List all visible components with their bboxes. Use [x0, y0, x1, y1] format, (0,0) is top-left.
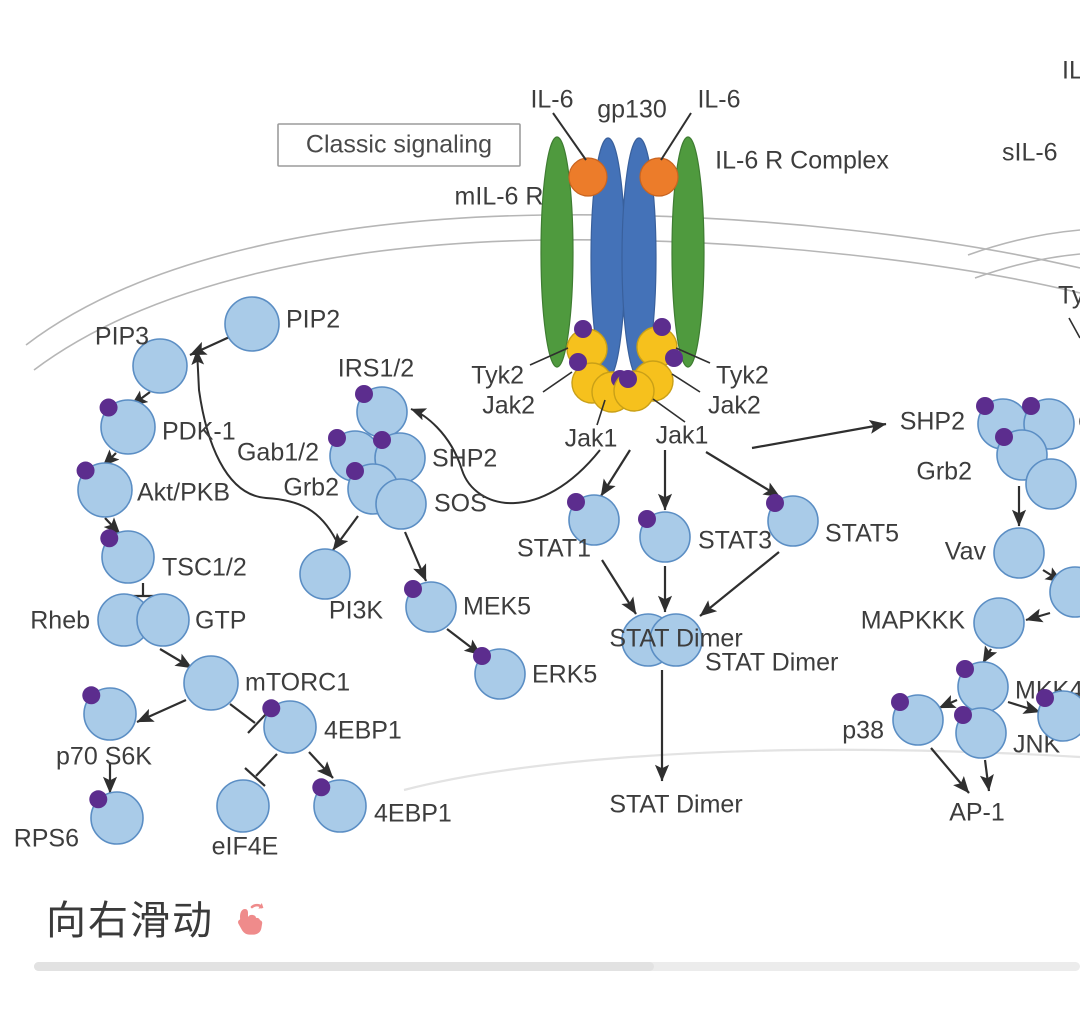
node-label-p70s6k: p70 S6K [56, 743, 152, 771]
protein-node-pdk1[interactable]: PDK-1 [100, 399, 236, 454]
protein-node-stat3[interactable]: STAT3 [638, 510, 772, 562]
node-label-mek5: MEK5 [463, 593, 531, 621]
jak2-right-label: Jak2 [708, 392, 761, 420]
phospho-dot [355, 385, 373, 403]
protein-node-p70s6k[interactable]: p70 S6K [56, 686, 152, 770]
arrow-p38-ap1 [931, 748, 969, 793]
node-label-erk5: ERK5 [532, 661, 597, 689]
node-label-pip3: PIP3 [95, 323, 149, 351]
node-circle [1026, 459, 1076, 509]
arrow-mtorc1-p70s6k [137, 700, 186, 722]
node-label-stat5: STAT5 [825, 520, 899, 548]
node-circle [184, 656, 238, 710]
article-page: Classic signaling IL-6 [0, 0, 1080, 1022]
jak-right-phospho-2 [665, 349, 683, 367]
protein-node-pip2[interactable]: PIP2 [225, 297, 340, 351]
node-label-statdim2: STAT Dimer [609, 625, 742, 653]
il6-right-label: IL-6 [697, 86, 740, 114]
arrow-jnk-ap1 [985, 760, 989, 791]
arrow-sos-mek5 [405, 532, 426, 581]
protein-node-rac[interactable] [1050, 567, 1080, 617]
il6-ligand-right [640, 158, 678, 196]
node-label-gtp: GTP [195, 607, 246, 635]
phospho-dot [89, 790, 107, 808]
node-circle [376, 479, 426, 529]
node-label-shp2r: SHP2 [900, 408, 965, 436]
arrow-rheb-mtorc1 [160, 649, 192, 668]
arrow-jak-stat5 [706, 452, 780, 497]
protein-node-stat5[interactable]: STAT5 [766, 494, 899, 548]
trans-il6-label: IL [1062, 57, 1080, 85]
gp130-label: gp130 [597, 96, 667, 124]
protein-node-irs[interactable]: IRS1/2 [338, 355, 414, 437]
protein-node-eif4e[interactable]: eIF4E [212, 780, 279, 861]
protein-node-stat1[interactable]: STAT1 [517, 493, 619, 563]
phospho-dot [328, 429, 346, 447]
protein-node-rheb[interactable]: Rheb [30, 594, 150, 646]
phospho-dot [567, 493, 585, 511]
jak2-left-label: Jak2 [482, 392, 535, 420]
protein-node-sosr[interactable]: S [1026, 459, 1080, 509]
phospho-dot [100, 529, 118, 547]
il6-left-label: IL-6 [530, 86, 573, 114]
horizontal-scroll-thumb[interactable] [34, 962, 654, 971]
protein-node-vav[interactable]: Vav [945, 528, 1044, 578]
protein-node-4ebp1b[interactable]: 4EBP1 [312, 778, 452, 832]
node-label-stat1: STAT1 [517, 535, 591, 563]
inhib-mtorc1-4ebp1-bar [248, 714, 266, 733]
phospho-dot [954, 706, 972, 724]
node-label-pip2: PIP2 [286, 306, 340, 334]
protein-node-p38[interactable]: p38 [842, 693, 943, 745]
arrow-jak-shp2 [752, 424, 886, 448]
protein-node-mek5[interactable]: MEK5 [404, 580, 531, 632]
jak2-left-leader [543, 372, 572, 392]
jak-right-phospho-3 [619, 370, 637, 388]
jak1-left-label: Jak1 [565, 425, 618, 453]
protein-node-pi3k[interactable]: PI3K [300, 549, 383, 625]
tyk2-left-label: Tyk2 [471, 362, 524, 390]
node-label-mtorc1: mTORC1 [245, 669, 350, 697]
phospho-dot [100, 399, 118, 417]
mil6r-subunit-left [541, 137, 573, 367]
trans-tyk-leader [1069, 318, 1080, 338]
phospho-dot [956, 660, 974, 678]
protein-node-4ebp1a[interactable]: 4EBP1 [262, 699, 402, 753]
phospho-dot [995, 428, 1013, 446]
protein-node-rps6[interactable]: RPS6 [14, 790, 143, 852]
arrow-grb2-pi3k [333, 516, 358, 550]
node-label-mapkkk: MAPKKK [861, 607, 966, 635]
node-label-akt: Akt/PKB [137, 479, 230, 507]
phospho-dot [1036, 689, 1054, 707]
jak-left-phospho-2 [569, 353, 587, 371]
pointing-right-hand-icon [228, 897, 268, 937]
swipe-hint-row[interactable]: 向右滑动 [0, 868, 1080, 966]
il6-ligand-left [569, 158, 607, 196]
jak1-right-leader [653, 399, 685, 422]
jak1-right-label: Jak1 [656, 422, 709, 450]
phospho-dot [891, 693, 909, 711]
phospho-dot [473, 647, 491, 665]
phospho-dot [82, 686, 100, 704]
protein-node-mapkkk[interactable]: MAPKKK [861, 598, 1024, 648]
node-label-4ebp1a: 4EBP1 [324, 717, 402, 745]
phospho-dot [346, 462, 364, 480]
tyk2-right-label: Tyk2 [716, 362, 769, 390]
il6r-complex-label: IL-6 R Complex [715, 147, 889, 175]
node-circle [300, 549, 350, 599]
classic-signaling-label: Classic signaling [306, 131, 492, 159]
node-label-irs: IRS1/2 [338, 355, 414, 383]
page-footer [0, 971, 1080, 1022]
phospho-dot [312, 778, 330, 796]
phospho-dot [1022, 397, 1040, 415]
phospho-dot [638, 510, 656, 528]
terminal-label-ap1: AP-1 [949, 799, 1005, 827]
node-circle [225, 297, 279, 351]
node-circle [217, 780, 269, 832]
arrow-mapkkk-mkk4 [983, 649, 991, 663]
arrow-stat1-dimer [602, 560, 636, 614]
protein-nodes-layer: PIP2PIP3PDK-1Akt/PKBTSC1/2RhebGTPmTORC1p… [14, 297, 1080, 861]
jak-left-phospho-1 [574, 320, 592, 338]
node-label-rps6: RPS6 [14, 825, 79, 853]
node-circle [1050, 567, 1080, 617]
node-label-gab: Gab1/2 [237, 439, 319, 467]
arrow-4ebp1-4ebp1p [309, 752, 333, 778]
node-label-vav: Vav [945, 538, 987, 566]
node-circle [974, 598, 1024, 648]
pathway-figure-card[interactable]: Classic signaling IL-6 [0, 0, 1080, 868]
node-label-pdk1: PDK-1 [162, 418, 236, 446]
arrow-mkk4-p38 [939, 700, 957, 708]
node-label-eif4e: eIF4E [212, 833, 279, 861]
jak-right-phospho-1 [653, 318, 671, 336]
protein-node-erk5[interactable]: ERK5 [473, 647, 597, 699]
phospho-dot [77, 462, 95, 480]
horizontal-scroll-track[interactable] [34, 962, 1080, 971]
protein-node-akt[interactable]: Akt/PKB [77, 462, 231, 517]
node-label-statdim1: STAT Dimer [705, 649, 838, 677]
node-label-rheb: Rheb [30, 607, 90, 635]
protein-node-pip3[interactable]: PIP3 [95, 323, 187, 393]
swipe-hint-text: 向右滑动 [46, 888, 214, 946]
arrow-jak-stat1 [601, 450, 630, 496]
jak2-right-leader [672, 374, 700, 392]
node-circle [137, 594, 189, 646]
node-circle [994, 528, 1044, 578]
node-label-tsc: TSC1/2 [162, 554, 247, 582]
node-label-4ebp1b: 4EBP1 [374, 800, 452, 828]
node-label-sos: SOS [434, 490, 487, 518]
trans-sil6r-label: sIL-6 [1002, 139, 1058, 167]
node-label-grb2r: Grb2 [916, 458, 972, 486]
trans-tyk-label: Ty [1058, 282, 1080, 310]
terminal-label-statdim-nucleus: STAT Dimer [609, 791, 742, 819]
trans-signaling-partial: IL sIL-6 Ty [1002, 57, 1080, 338]
node-label-grb2: Grb2 [283, 474, 339, 502]
terminal-labels-layer: STAT DimerAP-1 [609, 791, 1004, 827]
phospho-dot [404, 580, 422, 598]
arrow-rac-mapkkk [1026, 613, 1050, 620]
phospho-dot [766, 494, 784, 512]
node-label-pi3k: PI3K [329, 597, 384, 625]
inhib-4ebp1-eif4e-stem [256, 754, 277, 776]
inhib-mtorc1-4ebp1-stem [230, 704, 255, 723]
classic-signaling-box: Classic signaling [278, 124, 520, 166]
protein-node-tsc[interactable]: TSC1/2 [100, 529, 246, 583]
mil6r-label: mIL-6 R [455, 183, 544, 211]
arrow-stat5-dimer [700, 552, 779, 616]
node-label-p38: p38 [842, 717, 884, 745]
node-label-stat3: STAT3 [698, 527, 772, 555]
phospho-dot [262, 699, 280, 717]
node-label-shp2l: SHP2 [432, 445, 497, 473]
protein-node-gtp[interactable]: GTP [137, 594, 246, 646]
pathway-diagram: Classic signaling IL-6 [0, 0, 1080, 868]
phospho-dot [976, 397, 994, 415]
phospho-dot [373, 431, 391, 449]
